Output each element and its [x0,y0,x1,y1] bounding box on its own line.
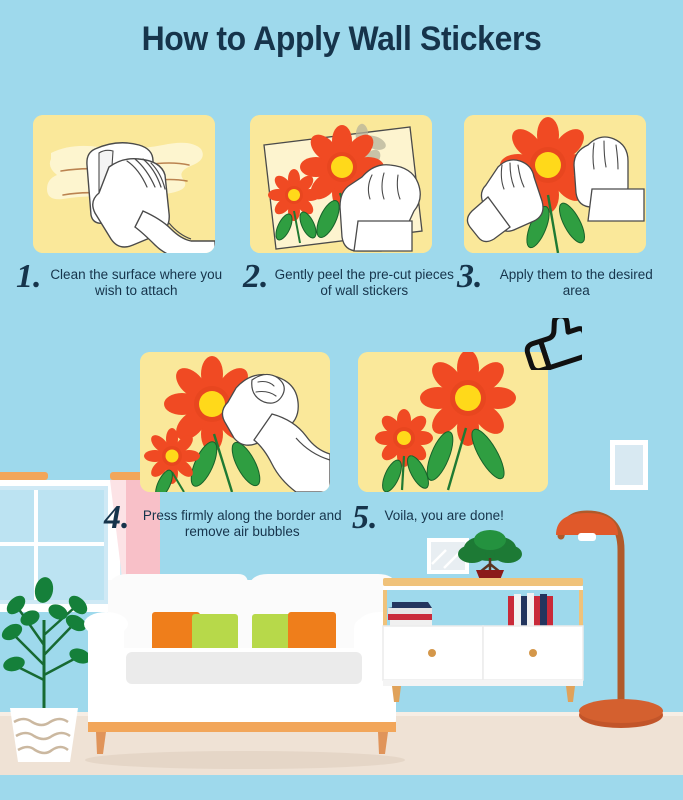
step-caption-4: 4. Press firmly along the border and rem… [104,503,352,540]
step-text-4: Press firmly along the border and remove… [133,503,353,540]
step-caption-5: 5. Voila, you are done! [352,503,567,533]
book-row [508,593,553,626]
thumbs-up-icon [520,318,582,375]
step-number-5: 5. [352,503,378,533]
step-card-2-illustration [250,115,432,253]
step-number-4: 4. [104,503,130,533]
step-text-3: Apply them to the desired area [486,262,668,299]
infographic-canvas: How to Apply Wall Stickers [0,0,683,800]
wall-picture-frame [610,440,648,490]
step-text-2: Gently peel the pre-cut pieces of wall s… [272,262,458,299]
step-caption-2: 2. Gently peel the pre-cut pieces of wal… [243,262,457,299]
step-text-1: Clean the surface where you wish to atta… [45,262,229,299]
page-title: How to Apply Wall Stickers [20,20,662,59]
step-caption-3: 3. Apply them to the desired area [457,262,667,299]
step-text-5: Voila, you are done! [381,503,568,524]
book-stack [388,602,432,626]
step-number-2: 2. [243,262,269,292]
step-number-1: 1. [16,262,42,292]
room-illustration [0,430,683,800]
step-caption-1: 1. Clean the surface where you wish to a… [16,262,228,299]
step-number-3: 3. [457,262,483,292]
step-card-3-illustration [464,115,646,253]
step-card-4-illustration [140,352,330,492]
step-card-1-illustration [33,115,215,253]
